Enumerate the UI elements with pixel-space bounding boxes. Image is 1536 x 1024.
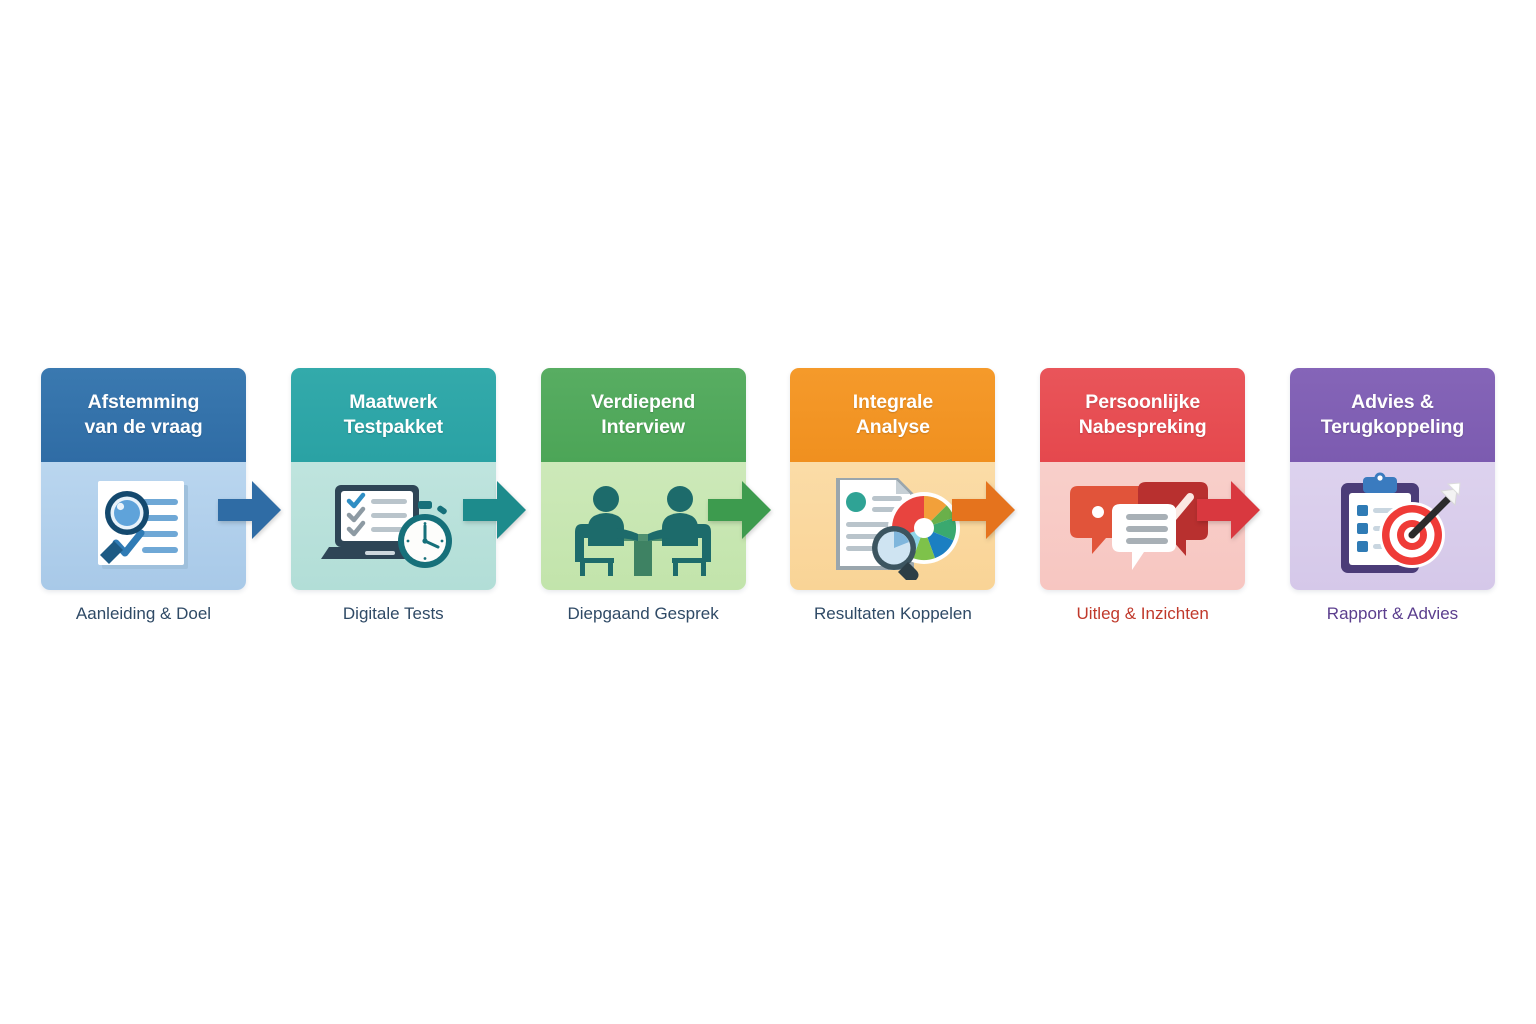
process-step-verdiepend-interview[interactable]: Verdiepend Interview <box>541 368 746 624</box>
step-card-header: Verdiepend Interview <box>541 368 746 462</box>
step-title-line2: Interview <box>601 416 685 438</box>
step-card[interactable]: Advies & Terugkoppeling <box>1290 368 1495 590</box>
step-card-header: Integrale Analyse <box>790 368 995 462</box>
step-card-body <box>41 462 246 590</box>
step-title-line2: van de vraag <box>84 416 202 438</box>
step-caption: Digitale Tests <box>343 604 444 624</box>
process-step-persoonlijke-nabespreking[interactable]: Persoonlijke Nabespreking <box>1040 368 1245 624</box>
step-caption: Diepgaand Gesprek <box>567 604 718 624</box>
process-step-maatwerk-testpakket[interactable]: Maatwerk Testpakket <box>291 368 496 624</box>
step-card[interactable]: Verdiepend Interview <box>541 368 746 590</box>
step-title-line2: Testpakket <box>344 416 443 438</box>
step-card-body <box>541 462 746 590</box>
step-card-header: Advies & Terugkoppeling <box>1290 368 1495 462</box>
step-card-body <box>790 462 995 590</box>
step-caption: Rapport & Advies <box>1327 604 1458 624</box>
step-title-line1: Verdiepend <box>591 391 695 413</box>
step-title: Afstemming van de vraag <box>84 390 202 440</box>
step-card-body <box>1040 462 1245 590</box>
document-magnifier-icon <box>69 470 219 582</box>
step-title: Persoonlijke Nabespreking <box>1079 390 1207 440</box>
step-caption: Uitleg & Inzichten <box>1077 604 1209 624</box>
step-card[interactable]: Maatwerk Testpakket <box>291 368 496 590</box>
two-people-table-icon <box>568 470 718 582</box>
step-title: Maatwerk Testpakket <box>344 390 443 440</box>
step-title-line1: Advies & <box>1351 391 1434 413</box>
report-piechart-magnifier-icon <box>818 470 968 582</box>
process-step-afstemming[interactable]: Afstemming van de vraag <box>41 368 246 624</box>
step-title-line2: Analyse <box>856 416 930 438</box>
step-title: Advies & Terugkoppeling <box>1321 390 1464 440</box>
process-step-advies-terugkoppeling[interactable]: Advies & Terugkoppeling <box>1290 368 1495 624</box>
step-card[interactable]: Persoonlijke Nabespreking <box>1040 368 1245 590</box>
diagram-canvas: Afstemming van de vraag <box>0 0 1536 1024</box>
process-flow: Afstemming van de vraag <box>41 368 1495 636</box>
step-card-header: Maatwerk Testpakket <box>291 368 496 462</box>
clipboard-target-arrow-icon <box>1317 470 1467 582</box>
step-title-line2: Terugkoppeling <box>1321 416 1464 438</box>
step-card[interactable]: Integrale Analyse <box>790 368 995 590</box>
step-card-header: Afstemming van de vraag <box>41 368 246 462</box>
step-title-line1: Afstemming <box>88 391 200 413</box>
step-caption: Resultaten Koppelen <box>814 604 972 624</box>
step-title-line1: Integrale <box>853 391 933 413</box>
process-step-integrale-analyse[interactable]: Integrale Analyse <box>790 368 995 624</box>
step-card-body <box>1290 462 1495 590</box>
step-card-header: Persoonlijke Nabespreking <box>1040 368 1245 462</box>
step-caption: Aanleiding & Doel <box>76 604 211 624</box>
step-title-line2: Nabespreking <box>1079 416 1207 438</box>
step-title: Integrale Analyse <box>853 390 933 440</box>
step-card[interactable]: Afstemming van de vraag <box>41 368 246 590</box>
speech-bubbles-icon <box>1068 470 1218 582</box>
laptop-checklist-stopwatch-icon <box>318 470 468 582</box>
step-title-line1: Maatwerk <box>349 391 437 413</box>
step-title: Verdiepend Interview <box>591 390 695 440</box>
step-card-body <box>291 462 496 590</box>
step-title-line1: Persoonlijke <box>1085 391 1200 413</box>
